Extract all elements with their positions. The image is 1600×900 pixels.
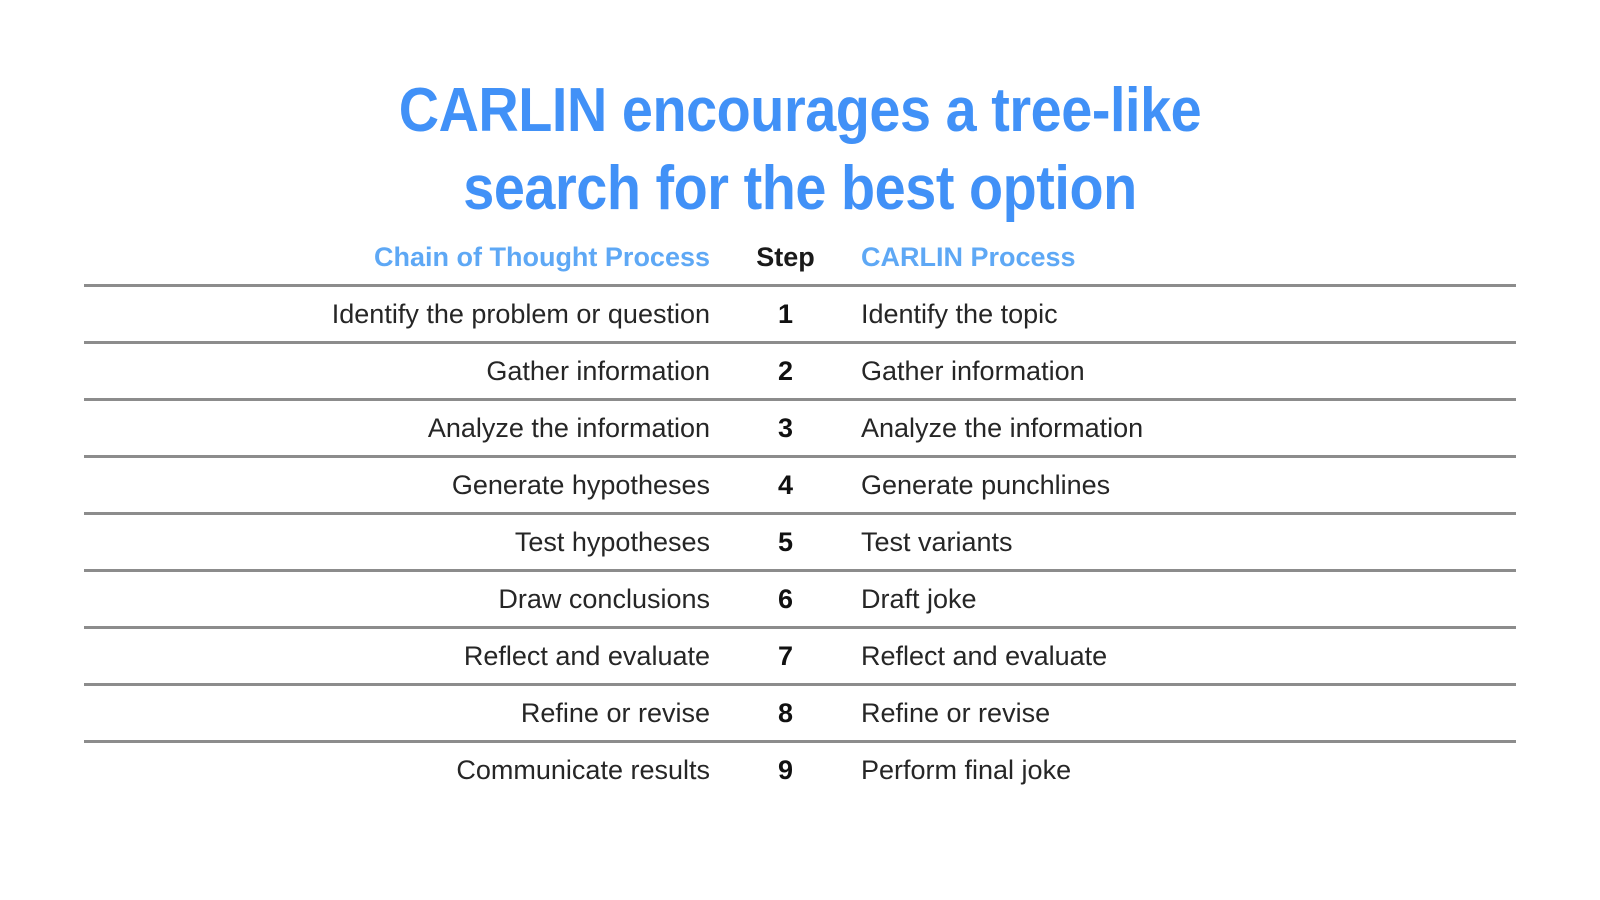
cell-step: 7 (716, 628, 855, 685)
cell-step: 4 (716, 457, 855, 514)
cell-step: 5 (716, 514, 855, 571)
cell-chain-of-thought: Reflect and evaluate (84, 628, 716, 685)
cell-chain-of-thought: Communicate results (84, 742, 716, 798)
cell-chain-of-thought: Refine or revise (84, 685, 716, 742)
cell-chain-of-thought: Identify the problem or question (84, 286, 716, 343)
table-row: Communicate results 9 Perform final joke (84, 742, 1516, 798)
table-header-row: Chain of Thought Process Step CARLIN Pro… (84, 240, 1516, 286)
column-header-chain-of-thought: Chain of Thought Process (84, 240, 716, 286)
cell-chain-of-thought: Test hypotheses (84, 514, 716, 571)
cell-chain-of-thought: Analyze the information (84, 400, 716, 457)
process-comparison-table: Chain of Thought Process Step CARLIN Pro… (84, 240, 1516, 797)
slide-canvas: CARLIN encourages a tree-like search for… (0, 0, 1600, 900)
cell-carlin: Test variants (855, 514, 1516, 571)
page-title: CARLIN encourages a tree-like search for… (0, 72, 1600, 228)
table-row: Generate hypotheses 4 Generate punchline… (84, 457, 1516, 514)
cell-carlin: Identify the topic (855, 286, 1516, 343)
table-row: Analyze the information 3 Analyze the in… (84, 400, 1516, 457)
table-row: Gather information 2 Gather information (84, 343, 1516, 400)
page-title-line-2: search for the best option (80, 150, 1520, 228)
cell-chain-of-thought: Gather information (84, 343, 716, 400)
cell-chain-of-thought: Generate hypotheses (84, 457, 716, 514)
cell-step: 9 (716, 742, 855, 798)
cell-carlin: Analyze the information (855, 400, 1516, 457)
cell-carlin: Refine or revise (855, 685, 1516, 742)
table-body: Identify the problem or question 1 Ident… (84, 286, 1516, 798)
cell-step: 1 (716, 286, 855, 343)
column-header-step: Step (716, 240, 855, 286)
cell-carlin: Reflect and evaluate (855, 628, 1516, 685)
cell-step: 6 (716, 571, 855, 628)
cell-carlin: Generate punchlines (855, 457, 1516, 514)
cell-chain-of-thought: Draw conclusions (84, 571, 716, 628)
process-comparison-table-wrapper: Chain of Thought Process Step CARLIN Pro… (84, 240, 1516, 797)
page-title-line-1: CARLIN encourages a tree-like (80, 72, 1520, 150)
cell-carlin: Gather information (855, 343, 1516, 400)
table-row: Reflect and evaluate 7 Reflect and evalu… (84, 628, 1516, 685)
cell-step: 3 (716, 400, 855, 457)
table-row: Refine or revise 8 Refine or revise (84, 685, 1516, 742)
table-row: Test hypotheses 5 Test variants (84, 514, 1516, 571)
cell-step: 8 (716, 685, 855, 742)
column-header-carlin: CARLIN Process (855, 240, 1516, 286)
table-row: Identify the problem or question 1 Ident… (84, 286, 1516, 343)
cell-carlin: Draft joke (855, 571, 1516, 628)
table-row: Draw conclusions 6 Draft joke (84, 571, 1516, 628)
cell-step: 2 (716, 343, 855, 400)
table-header: Chain of Thought Process Step CARLIN Pro… (84, 240, 1516, 286)
cell-carlin: Perform final joke (855, 742, 1516, 798)
